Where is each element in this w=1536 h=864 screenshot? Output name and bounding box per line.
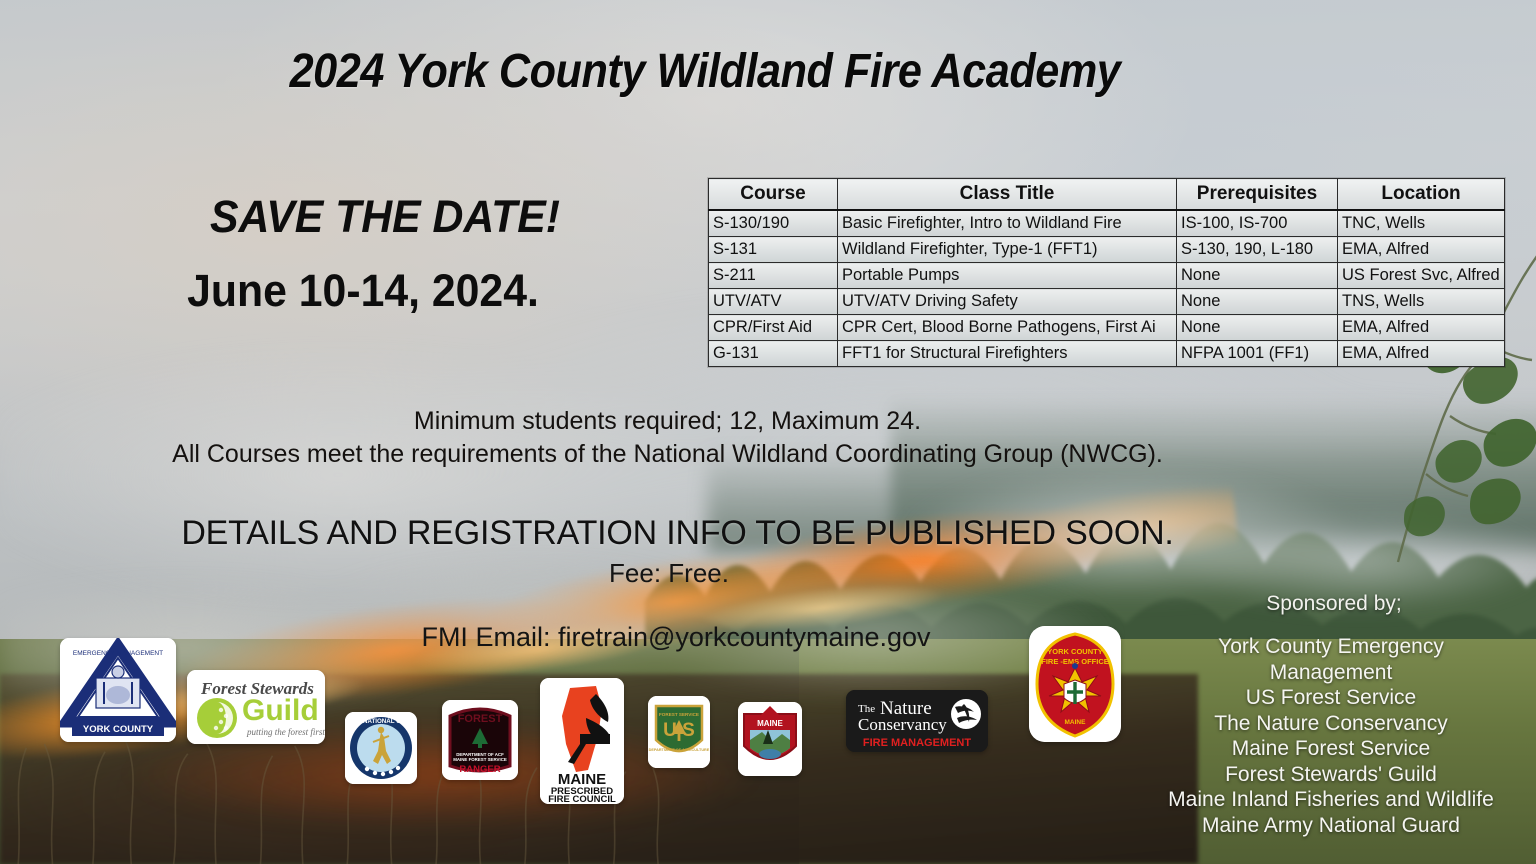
cell-location: TNS, Wells	[1338, 289, 1505, 315]
minimum-students-note: Minimum students required; 12, Maximum 2…	[0, 407, 1335, 436]
course-schedule-table: Course Class Title Prerequisites Locatio…	[708, 178, 1470, 367]
svg-text:MAINE: MAINE	[757, 719, 783, 728]
svg-text:DEPARTMENT OF AGRICULTURE: DEPARTMENT OF AGRICULTURE	[649, 748, 710, 752]
cell-course: S-211	[709, 263, 838, 289]
sponsor-item: The Nature Conservancy	[1166, 711, 1496, 737]
forest-stewards-guild-logo: Forest Stewards Guild putting the forest…	[187, 670, 325, 744]
cell-course: S-131	[709, 237, 838, 263]
svg-text:putting the forest first: putting the forest first	[246, 727, 325, 737]
event-dates: June 10-14, 2024.	[140, 265, 587, 317]
maine-prescribed-fire-council-logo: MAINE PRESCRIBED FIRE COUNCIL	[540, 678, 624, 804]
cell-location: EMA, Alfred	[1338, 237, 1505, 263]
cell-location: EMA, Alfred	[1338, 315, 1505, 341]
cell-location: US Forest Svc, Alfred	[1338, 263, 1505, 289]
sponsor-item: US Forest Service	[1166, 685, 1496, 711]
cell-location: EMA, Alfred	[1338, 341, 1505, 367]
cell-location: TNC, Wells	[1338, 210, 1505, 237]
cell-prerequisites: IS-100, IS-700	[1177, 210, 1338, 237]
sponsor-item: Maine Inland Fisheries and Wildlife	[1166, 787, 1496, 813]
fee-notice: Fee: Free.	[0, 558, 1338, 589]
cell-prerequisites: None	[1177, 315, 1338, 341]
cell-class-title: UTV/ATV Driving Safety	[838, 289, 1177, 315]
sponsors-list: York County Emergency ManagementUS Fores…	[1166, 634, 1496, 838]
york-county-ema-logo: AGENCY YORK COUNTY EMERGENCY MANAGEMENT	[60, 638, 176, 742]
svg-text:FIRE COUNCIL: FIRE COUNCIL	[548, 794, 616, 804]
sponsors-heading: Sponsored by;	[1184, 592, 1484, 616]
nwcg-compliance-note: All Courses meet the requirements of the…	[0, 440, 1335, 469]
cell-course: UTV/ATV	[709, 289, 838, 315]
cell-course: CPR/First Aid	[709, 315, 838, 341]
svg-text:FIRE MANAGEMENT: FIRE MANAGEMENT	[863, 737, 971, 749]
table-row: S-211Portable PumpsNoneUS Forest Svc, Al…	[709, 263, 1505, 289]
column-header-location: Location	[1338, 179, 1505, 211]
svg-text:MAINE FOREST SERVICE: MAINE FOREST SERVICE	[453, 757, 507, 762]
cell-class-title: Basic Firefighter, Intro to Wildland Fir…	[838, 210, 1177, 237]
page-title: 2024 York County Wildland Fire Academy	[71, 44, 1340, 99]
cell-course: S-130/190	[709, 210, 838, 237]
sponsor-item: York County Emergency Management	[1166, 634, 1496, 685]
svg-text:RANGER: RANGER	[459, 764, 500, 775]
nature-conservancy-fire-management-logo: The Nature Conservancy FIRE MANAGEMENT	[846, 690, 988, 752]
registration-notice: DETAILS AND REGISTRATION INFO TO BE PUBL…	[0, 514, 1355, 553]
table-body: S-130/190Basic Firefighter, Intro to Wil…	[709, 210, 1505, 367]
table-row: S-130/190Basic Firefighter, Intro to Wil…	[709, 210, 1505, 237]
save-the-date-heading: SAVE THE DATE!	[162, 191, 609, 243]
svg-text:FOREST SERVICE: FOREST SERVICE	[659, 712, 699, 717]
svg-text:YORK COUNTY: YORK COUNTY	[83, 724, 154, 735]
table-header-row: Course Class Title Prerequisites Locatio…	[709, 179, 1505, 211]
svg-text:Guild: Guild	[242, 694, 319, 727]
svg-text:MAINE: MAINE	[1065, 719, 1087, 726]
table-row: CPR/First AidCPR Cert, Blood Borne Patho…	[709, 315, 1505, 341]
svg-text:The: The	[858, 703, 875, 715]
cell-class-title: CPR Cert, Blood Borne Pathogens, First A…	[838, 315, 1177, 341]
svg-text:ARMY NATIONAL GUARD: ARMY NATIONAL GUARD	[345, 718, 417, 725]
svg-text:Conservancy: Conservancy	[858, 715, 947, 734]
cell-class-title: Portable Pumps	[838, 263, 1177, 289]
cell-prerequisites: NFPA 1001 (FF1)	[1177, 341, 1338, 367]
maine-forest-ranger-logo: FOREST DEPARTMENT OF ACF MAINE FOREST SE…	[442, 700, 518, 780]
cell-course: G-131	[709, 341, 838, 367]
cell-class-title: Wildland Firefighter, Type-1 (FFT1)	[838, 237, 1177, 263]
york-county-fire-ems-office-logo: YORK COUNTY FIRE -EMS OFFICE MAINE	[1029, 626, 1121, 742]
table-row: G-131FFT1 for Structural FirefightersNFP…	[709, 341, 1505, 367]
column-header-prerequisites: Prerequisites	[1177, 179, 1338, 211]
sponsor-item: Forest Stewards' Guild	[1166, 762, 1496, 788]
sponsor-item: Maine Forest Service	[1166, 736, 1496, 762]
wildland-fire-academy-poster: 2024 York County Wildland Fire Academy S…	[0, 0, 1536, 864]
table-row: UTV/ATVUTV/ATV Driving SafetyNoneTNS, We…	[709, 289, 1505, 315]
svg-text:FOREST: FOREST	[458, 713, 503, 725]
contact-email-line: FMI Email: firetrain@yorkcountymaine.gov	[0, 622, 1352, 653]
svg-text:YORK COUNTY: YORK COUNTY	[1047, 647, 1102, 656]
svg-text:EMERGENCY MANAGEMENT: EMERGENCY MANAGEMENT	[73, 650, 163, 657]
army-national-guard-logo: ARMY NATIONAL GUARD	[345, 712, 417, 784]
cell-prerequisites: S-130, 190, L-180	[1177, 237, 1338, 263]
cell-prerequisites: None	[1177, 289, 1338, 315]
maine-inland-fisheries-wildlife-logo: MAINE	[738, 702, 802, 776]
us-forest-service-logo: FOREST SERVICE U S DEPARTMENT OF AGRICUL…	[648, 696, 710, 768]
sponsor-item: Maine Army National Guard	[1166, 813, 1496, 839]
table-row: S-131Wildland Firefighter, Type-1 (FFT1)…	[709, 237, 1505, 263]
cell-prerequisites: None	[1177, 263, 1338, 289]
column-header-class-title: Class Title	[838, 179, 1177, 211]
cell-class-title: FFT1 for Structural Firefighters	[838, 341, 1177, 367]
column-header-course: Course	[709, 179, 838, 211]
